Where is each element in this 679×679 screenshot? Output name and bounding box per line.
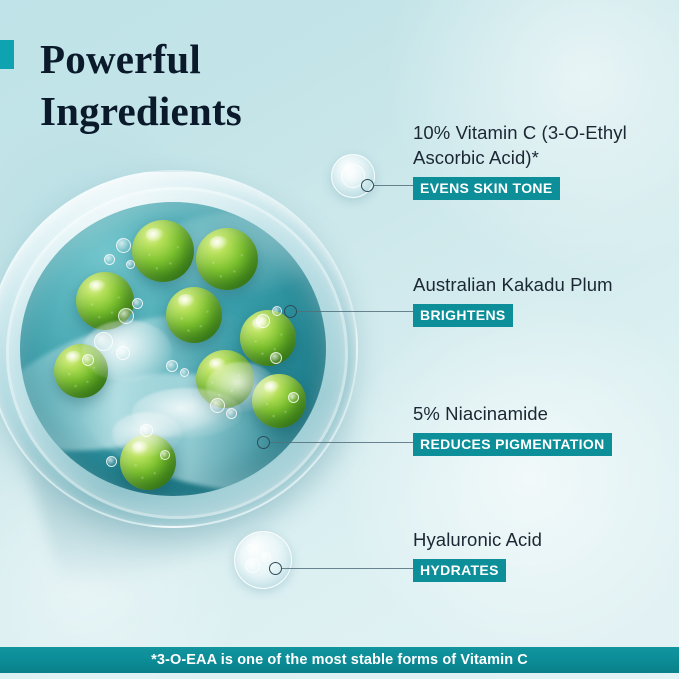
bubble [226,408,237,419]
droplet-inner-bubble [245,558,260,573]
callout-badge: HYDRATES [413,559,506,582]
accent-square [0,40,14,69]
bubble [272,306,282,316]
page-title: Powerful Ingredients [40,33,370,137]
callout-line-hyaluronic-acid [282,568,413,569]
petri-dish-image [0,168,386,546]
bubble [270,352,282,364]
bubble [132,298,143,309]
ingredients-infographic: Powerful Ingredients [0,0,679,679]
bubble [256,314,270,328]
bubble [116,238,131,253]
callout-marker-kakadu-plum[interactable] [284,305,297,318]
bubble [106,456,117,467]
callout-title: 5% Niacinamide [413,401,679,426]
callout-marker-niacinamide[interactable] [257,436,270,449]
bubble [116,346,130,360]
bubble [166,360,178,372]
water-droplet-bottom [234,531,292,589]
dish-liquid [20,202,326,496]
callout-kakadu-plum: Australian Kakadu Plum BRIGHTENS [413,272,679,327]
bubble [160,450,170,460]
bubble [210,398,225,413]
green-sphere [196,228,258,290]
callout-vitamin-c: 10% Vitamin C (3-O-Ethyl Ascorbic Acid)*… [413,120,679,200]
droplet-inner-bubble [261,552,271,562]
callout-hyaluronic-acid: Hyaluronic Acid HYDRATES [413,527,679,582]
callout-marker-vitamin-c[interactable] [361,179,374,192]
bubble [94,332,113,351]
green-sphere [132,220,194,282]
page-title-line-1: Powerful [40,33,370,85]
dish-glass-rim [0,170,358,528]
callout-badge: BRIGHTENS [413,304,513,327]
callout-badge: EVENS SKIN TONE [413,177,560,200]
callout-badge: REDUCES PIGMENTATION [413,433,612,456]
callout-line-kakadu-plum [297,311,413,312]
callout-title: Hyaluronic Acid [413,527,679,552]
page-title-line-2: Ingredients [40,85,370,137]
callout-niacinamide: 5% Niacinamide REDUCES PIGMENTATION [413,401,679,456]
bubble [82,354,94,366]
callout-marker-hyaluronic-acid[interactable] [269,562,282,575]
droplet-inner-bubble [247,544,255,552]
bubble [288,392,299,403]
footer-bar: *3-O-EAA is one of the most stable forms… [0,647,679,673]
footer-note: *3-O-EAA is one of the most stable forms… [151,652,528,668]
bubble [140,424,153,437]
callout-title: 10% Vitamin C (3-O-Ethyl Ascorbic Acid)* [413,120,679,170]
bubble [126,260,135,269]
green-sphere [166,287,222,343]
callout-line-niacinamide [270,442,413,443]
callout-title: Australian Kakadu Plum [413,272,679,297]
bubble [118,308,134,324]
bubble [104,254,115,265]
callout-line-vitamin-c [374,185,413,186]
bubble [180,368,189,377]
